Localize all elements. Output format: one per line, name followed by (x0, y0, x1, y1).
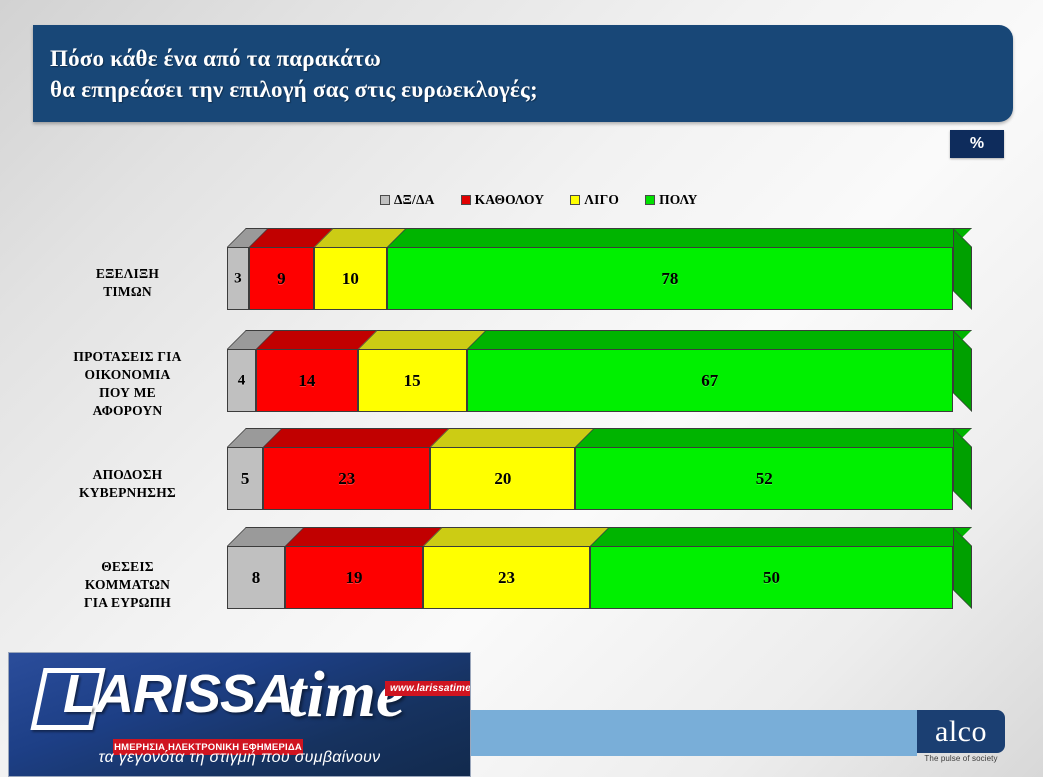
bar-segment: 10 (314, 247, 387, 310)
bar-value-label: 67 (468, 371, 952, 391)
bar-segment: 78 (387, 247, 953, 310)
category-label: ΠΡΟΤΑΣΕΙΣ ΓΙΑ ΟΙΚΟΝΟΜΙΑ ΠΟΥ ΜΕ ΑΦΟΡΟΥΝ (40, 348, 215, 420)
alco-brand-text: alco (935, 717, 987, 747)
larissatime-wordmark: LARISSA time www.larissatime.gr ΗΜΕΡΗΣΙΑ… (33, 663, 453, 735)
bar-segment-top-face (227, 228, 268, 247)
bar-segment: 9 (249, 247, 314, 310)
bar-segment: 52 (575, 447, 953, 510)
bar-value-label: 3 (228, 270, 248, 287)
bar-segment-top-face (358, 330, 486, 349)
bar-segment-side-face (953, 527, 972, 609)
bar-segment-top-face (227, 428, 282, 447)
alco-badge: alco (917, 710, 1005, 753)
stacked-bar: 391078 (227, 247, 953, 310)
page-title: Πόσο κάθε ένα από τα παρακάτω θα επηρεάσ… (50, 43, 1003, 105)
category-label: ΑΠΟΔΟΣΗ ΚΥΒΕΡΝΗΣΗΣ (40, 466, 215, 502)
bar-segment-top-face (430, 428, 594, 447)
bar-value-label: 23 (424, 568, 589, 588)
legend-label: ΠΟΛΥ (659, 192, 698, 208)
legend-item: ΛΙΓΟ (570, 192, 619, 208)
bar-value-label: 15 (359, 371, 466, 391)
chart-legend: ΔΞ/ΔΑΚΑΘΟΛΟΥΛΙΓΟΠΟΛΥ (380, 190, 780, 210)
stacked-bar: 5232052 (227, 447, 953, 510)
footer-blue-band (470, 710, 917, 756)
bar-segment: 3 (227, 247, 249, 310)
bar-value-label: 10 (315, 269, 386, 289)
bar-value-label: 5 (228, 469, 262, 489)
bar-segment: 67 (467, 349, 953, 412)
larissatime-tagline: τα γεγονότα τη στιγμή που συμβαίνουν (9, 749, 470, 767)
bar-segment-top-face (575, 428, 972, 447)
category-label: ΘΕΣΕΙΣ ΚΟΜΜΑΤΩΝ ΓΙΑ ΕΥΡΩΠΗ (40, 558, 215, 612)
bar-segment-top-face (590, 527, 972, 546)
bar-segment: 14 (256, 349, 358, 412)
category-label: ΕΞΕΛΙΞΗ ΤΙΜΩΝ (40, 265, 215, 301)
bar-segment-top-face (314, 228, 406, 247)
bar-value-label: 20 (431, 469, 574, 489)
bar-segment-side-face (953, 428, 972, 510)
bar-value-label: 23 (264, 469, 429, 489)
bar-value-label: 50 (591, 568, 952, 588)
legend-swatch-icon (461, 195, 471, 205)
bar-value-label: 9 (250, 269, 313, 289)
bar-segment-top-face (285, 527, 442, 546)
larissa-brand-text: LARISSA (63, 665, 293, 723)
bar-value-label: 52 (576, 469, 952, 489)
stacked-bar: 8192350 (227, 546, 953, 609)
bar-segment: 8 (227, 546, 285, 609)
bar-segment-top-face (256, 330, 377, 349)
legend-label: ΛΙΓΟ (584, 192, 619, 208)
bar-segment-top-face (249, 228, 333, 247)
bar-segment: 20 (430, 447, 575, 510)
percent-badge: % (950, 130, 1004, 158)
bar-segment-top-face (467, 330, 972, 349)
bar-segment: 15 (358, 349, 467, 412)
slide-canvas: Πόσο κάθε ένα από τα παρακάτω θα επηρεάσ… (0, 0, 1043, 777)
bar-segment-top-face (227, 527, 304, 546)
bar-segment-side-face (953, 330, 972, 412)
bar-segment: 5 (227, 447, 263, 510)
bar-segment: 4 (227, 349, 256, 412)
bar-value-label: 19 (286, 568, 422, 588)
bar-segment-top-face (387, 228, 972, 247)
bar-segment-top-face (423, 527, 609, 546)
bar-segment-top-face (227, 330, 275, 349)
legend-swatch-icon (570, 195, 580, 205)
bar-segment-side-face (953, 228, 972, 310)
legend-item: ΠΟΛΥ (645, 192, 698, 208)
legend-item: ΔΞ/ΔΑ (380, 192, 435, 208)
legend-item: ΚΑΘΟΛΟΥ (461, 192, 545, 208)
legend-label: ΔΞ/ΔΑ (394, 192, 435, 208)
legend-label: ΚΑΘΟΛΟΥ (475, 192, 545, 208)
bar-value-label: 8 (228, 568, 284, 588)
bar-segment: 23 (423, 546, 590, 609)
larissatime-url: www.larissatime.gr (385, 681, 471, 696)
bar-segment-top-face (263, 428, 449, 447)
bar-segment: 19 (285, 546, 423, 609)
bar-value-label: 4 (228, 372, 255, 389)
legend-swatch-icon (380, 195, 390, 205)
bar-value-label: 14 (257, 371, 357, 391)
legend-swatch-icon (645, 195, 655, 205)
bar-segment: 23 (263, 447, 430, 510)
stacked-bar: 4141567 (227, 349, 953, 412)
larissatime-logo: LARISSA time www.larissatime.gr ΗΜΕΡΗΣΙΑ… (8, 652, 471, 777)
alco-logo: alco The pulse of society (917, 710, 1005, 767)
bar-segment: 50 (590, 546, 953, 609)
alco-tagline: The pulse of society (917, 754, 1005, 763)
title-banner: Πόσο κάθε ένα από τα παρακάτω θα επηρεάσ… (33, 25, 1013, 122)
bar-value-label: 78 (388, 269, 952, 289)
